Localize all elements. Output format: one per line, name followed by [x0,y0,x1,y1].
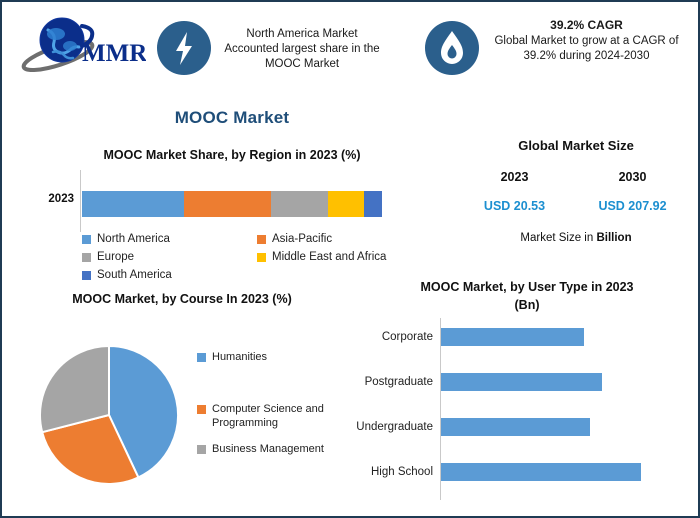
region-bar-segment [328,191,364,217]
usertype-bar [441,328,584,346]
market-size-note: Market Size in Billion [457,232,695,244]
legend-swatch [257,253,266,262]
usertype-bar-row: High School [347,453,692,498]
legend-swatch [197,353,206,362]
flame-icon [425,21,479,75]
infographic-root: MMR North America Market Accounted large… [0,0,700,518]
market-size-note-prefix: Market Size in [520,232,596,244]
region-chart-category-label: 2023 [26,193,74,205]
region-chart-legend: North AmericaAsia-PacificEuropeMiddle Ea… [82,230,432,284]
usertype-bar-label: Undergraduate [347,421,433,433]
legend-item: Computer Science and Programming [197,402,357,430]
legend-label: Business Management [212,442,324,456]
legend-label: Middle East and Africa [272,251,386,263]
legend-label: South America [97,269,172,281]
logo-artwork: MMR [20,12,146,76]
market-size-year-2030: 2030 [585,170,680,184]
usertype-bar-label: Postgraduate [347,376,433,388]
legend-item: Humanities [197,350,267,364]
region-bar-segment [184,191,271,217]
market-size-value-2030: USD 207.92 [585,199,680,213]
legend-item: Asia-Pacific [257,230,432,248]
legend-item: Business Management [197,442,324,456]
header-cagr-block: 39.2% CAGR Global Market to grow at a CA… [489,18,684,64]
region-stacked-bar [82,191,382,217]
market-size-title: Global Market Size [457,138,695,153]
legend-item: Europe [82,248,257,266]
market-size-note-unit: Billion [596,232,631,244]
legend-swatch [257,235,266,244]
region-bar-segment [82,191,184,217]
region-bar-segment [271,191,328,217]
legend-item: North America [82,230,257,248]
flame-glyph [425,21,479,75]
legend-swatch [197,405,206,414]
legend-label: Europe [97,251,134,263]
legend-label: Computer Science and Programming [212,402,357,430]
global-market-size-panel: Global Market Size 2023 2030 USD 20.53 U… [457,134,695,259]
legend-label: Asia-Pacific [272,233,332,245]
page-title: MOOC Market [2,108,462,128]
legend-label: Humanities [212,350,267,364]
usertype-bar-row: Undergraduate [347,408,692,453]
region-chart: 2023 North AmericaAsia-PacificEuropeMidd… [12,170,442,280]
region-chart-axis [80,170,81,232]
legend-swatch [82,235,91,244]
cagr-description: Global Market to grow at a CAGR of 39.2%… [494,35,678,62]
legend-item: South America [82,266,257,284]
lightning-bolt-icon [157,21,211,75]
usertype-title-line1: MOOC Market, by User Type in 2023 [367,278,687,296]
usertype-bar-label: High School [347,466,433,478]
mmr-globe-logo: MMR [20,12,146,76]
usertype-title-line2: (Bn) [367,296,687,314]
pie-slices [38,344,180,486]
market-size-value-2023: USD 20.53 [467,199,562,213]
usertype-bar-label: Corporate [347,331,433,343]
usertype-bar-row: Postgraduate [347,363,692,408]
usertype-chart: CorporatePostgraduateUndergraduateHigh S… [347,318,692,508]
market-size-year-2023: 2023 [467,170,562,184]
course-chart-title: MOOC Market, by Course In 2023 (%) [12,292,352,306]
legend-swatch [82,253,91,262]
header-highlight-text: North America Market Accounted largest s… [222,27,382,72]
bolt-glyph [157,21,211,75]
legend-item: Middle East and Africa [257,248,432,266]
usertype-bar-row: Corporate [347,318,692,363]
usertype-bar [441,463,641,481]
usertype-bar [441,418,590,436]
usertype-bar [441,373,602,391]
course-pie-chart [38,344,180,486]
legend-swatch [197,445,206,454]
region-chart-title: MOOC Market Share, by Region in 2023 (%) [22,148,442,162]
legend-label: North America [97,233,170,245]
usertype-chart-title: MOOC Market, by User Type in 2023 (Bn) [367,278,687,314]
region-bar-segment [364,191,382,217]
svg-text:MMR: MMR [82,40,146,67]
header: MMR North America Market Accounted large… [2,2,698,88]
legend-swatch [82,271,91,280]
cagr-title: 39.2% CAGR [489,18,684,33]
